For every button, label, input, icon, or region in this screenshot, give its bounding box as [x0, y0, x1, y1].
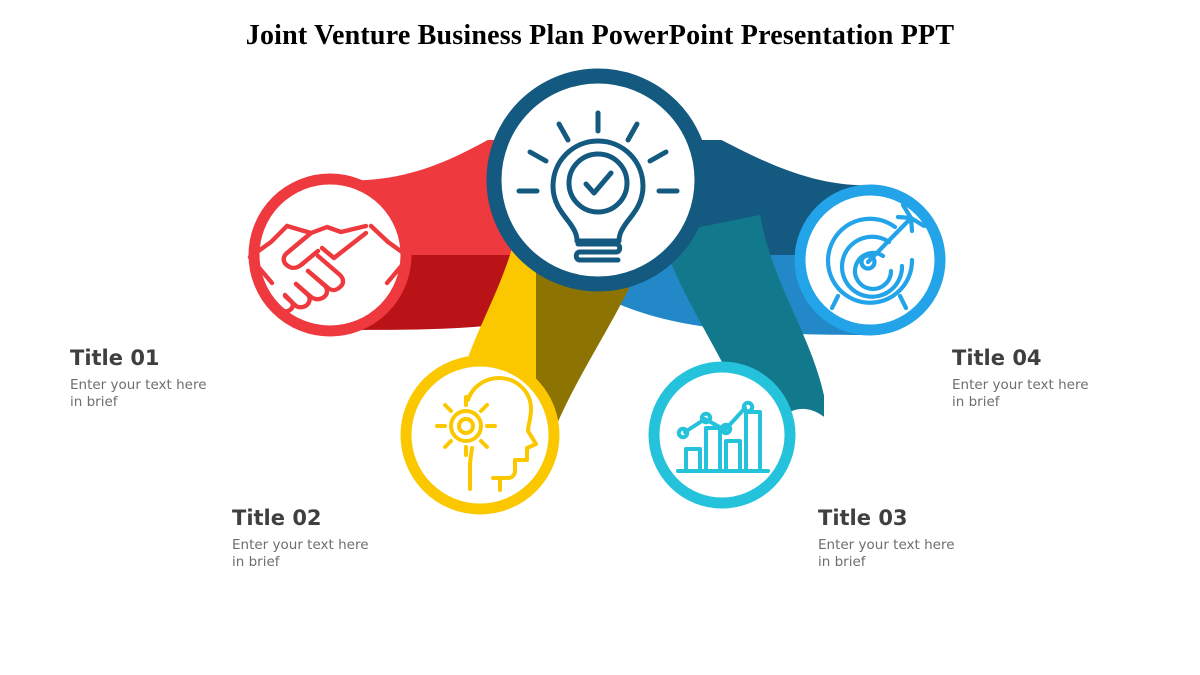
label-block-01: Title 01 Enter your text here in brief [70, 347, 207, 411]
node-02-title: Title 02 [232, 507, 369, 530]
node-03-title: Title 03 [818, 507, 955, 530]
node-01-title: Title 01 [70, 347, 207, 370]
node-03-desc-line1: Enter your text here [818, 537, 955, 554]
node-01-handshake[interactable] [250, 179, 409, 331]
node-03-bar-chart[interactable] [654, 367, 790, 503]
node-02-desc-line2: in brief [232, 554, 369, 571]
presentation-slide: Joint Venture Business Plan PowerPoint P… [0, 0, 1200, 675]
node-03-desc-line2: in brief [818, 554, 955, 571]
label-block-04: Title 04 Enter your text here in brief [952, 347, 1089, 411]
node-04-target[interactable] [800, 190, 940, 330]
node-04-desc-line2: in brief [952, 394, 1089, 411]
node-01-desc-line1: Enter your text here [70, 377, 207, 394]
diagram-canvas [0, 0, 1200, 675]
node-02-desc-line1: Enter your text here [232, 537, 369, 554]
label-block-02: Title 02 Enter your text here in brief [232, 507, 369, 571]
node-04-title: Title 04 [952, 347, 1089, 370]
center-node-lightbulb[interactable] [494, 76, 702, 284]
node-01-desc-line2: in brief [70, 394, 207, 411]
node-04-desc-line1: Enter your text here [952, 377, 1089, 394]
node-02-head-gear[interactable] [406, 361, 554, 509]
label-block-03: Title 03 Enter your text here in brief [818, 507, 955, 571]
infographic-diagram [0, 0, 1200, 675]
